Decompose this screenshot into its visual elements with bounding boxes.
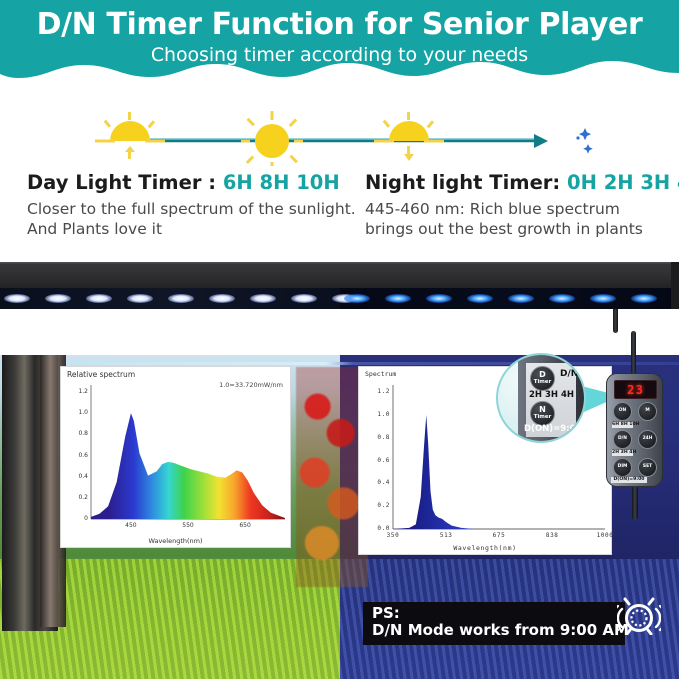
white-led — [4, 294, 30, 303]
led-strip — [0, 288, 679, 309]
led-end-cap — [671, 262, 679, 309]
night-light-hours: 0H 2H 3H 4H — [567, 171, 679, 194]
aquarium-scene: Relative spectrum 1.0=33.720mW/nm 1.21.0… — [0, 309, 679, 679]
white-led — [250, 294, 276, 303]
magnified-hours-row: 2H 3H 4H — [529, 390, 574, 400]
day-chart-plot — [61, 367, 290, 547]
day-chart-xlabel: Wavelength(nm) — [61, 537, 290, 545]
blue-led — [631, 294, 657, 303]
timer-controller[interactable]: 23 ON M 6H 8H 10H D/N 24H 2H 3H 4H DIM S… — [606, 373, 663, 487]
white-led — [45, 294, 71, 303]
moon-icon — [551, 120, 593, 162]
controller-magnifier: D Timer D/N 2H 3H 4H N Timer D(ON)=9:00 — [496, 353, 586, 443]
night-hours-label: 2H 3H 4H — [612, 450, 633, 456]
blue-led — [590, 294, 616, 303]
wave-divider — [0, 59, 679, 92]
header-banner: D/N Timer Function for Senior Player Cho… — [0, 0, 679, 92]
ps-label: PS: — [372, 604, 400, 622]
day-hours-label: 6H 8H 10H — [612, 422, 633, 428]
night-light-section: Night light Timer: 0H 2H 3H 4H 445-460 n… — [365, 172, 665, 240]
day-spectrum-chart: Relative spectrum 1.0=33.720mW/nm 1.21.0… — [60, 366, 291, 548]
dn-button[interactable]: D/N — [613, 430, 632, 449]
n-timer-knob[interactable]: N Timer — [530, 401, 555, 426]
power-cord-upper — [613, 309, 618, 333]
white-led — [127, 294, 153, 303]
night-light-heading: Night light Timer: 0H 2H 3H 4H — [365, 172, 665, 193]
infographic-page: D/N Timer Function for Senior Player Cho… — [0, 0, 679, 679]
magnified-controller-body: D Timer D/N 2H 3H 4H N Timer D(ON)=9:00 — [518, 353, 586, 443]
day-light-label: Day Light Timer : — [27, 171, 223, 194]
d-timer-knob[interactable]: D Timer — [530, 366, 555, 391]
led-light-bar — [0, 262, 679, 309]
day-light-description: Closer to the full spectrum of the sunli… — [27, 200, 357, 240]
blue-led — [344, 294, 370, 303]
timer-24h-button[interactable]: 24H — [638, 430, 657, 449]
white-led — [209, 294, 235, 303]
magnified-status-text: D(ON)=9:00 — [524, 424, 581, 434]
white-led — [86, 294, 112, 303]
page-title: D/N Timer Function for Senior Player — [0, 7, 679, 42]
alarm-clock-icon — [617, 595, 661, 635]
mode-button[interactable]: M — [638, 402, 657, 421]
dn-mode-text: D/N — [560, 369, 578, 379]
blue-led — [549, 294, 575, 303]
ps-text: D/N Mode works from 9:00 AM — [372, 621, 629, 639]
day-light-hours: 6H 8H 10H — [223, 171, 340, 194]
ps-note-box: PS: D/N Mode works from 9:00 AM — [363, 602, 625, 645]
power-button[interactable]: ON — [613, 402, 632, 421]
display-value: 23 — [615, 382, 656, 397]
controller-cable-top — [631, 331, 636, 377]
scene-top-gap — [0, 309, 679, 355]
blue-led — [508, 294, 534, 303]
controller-display: 23 — [614, 380, 657, 399]
night-light-description: 445-460 nm: Rich blue spectrum brings ou… — [365, 200, 665, 240]
dimmer-button[interactable]: DIM — [613, 458, 632, 477]
controller-cable-bottom — [632, 486, 638, 520]
timeline-arrow — [150, 134, 548, 148]
day-night-timeline — [0, 108, 679, 166]
night-chart-xlabel: Wavelength(nm) — [359, 544, 611, 552]
led-housing — [0, 262, 679, 288]
blue-led — [426, 294, 452, 303]
white-led — [168, 294, 194, 303]
blue-led — [467, 294, 493, 303]
day-light-section: Day Light Timer : 6H 8H 10H Closer to th… — [27, 172, 357, 240]
blue-led — [385, 294, 411, 303]
night-light-label: Night light Timer: — [365, 171, 567, 194]
sunset-icon — [374, 112, 444, 161]
set-button[interactable]: SET — [638, 458, 657, 477]
white-led — [291, 294, 317, 303]
sunrise-icon — [95, 112, 165, 159]
controller-status-label: D(ON)=9:00 — [611, 477, 647, 483]
day-light-heading: Day Light Timer : 6H 8H 10H — [27, 172, 357, 193]
